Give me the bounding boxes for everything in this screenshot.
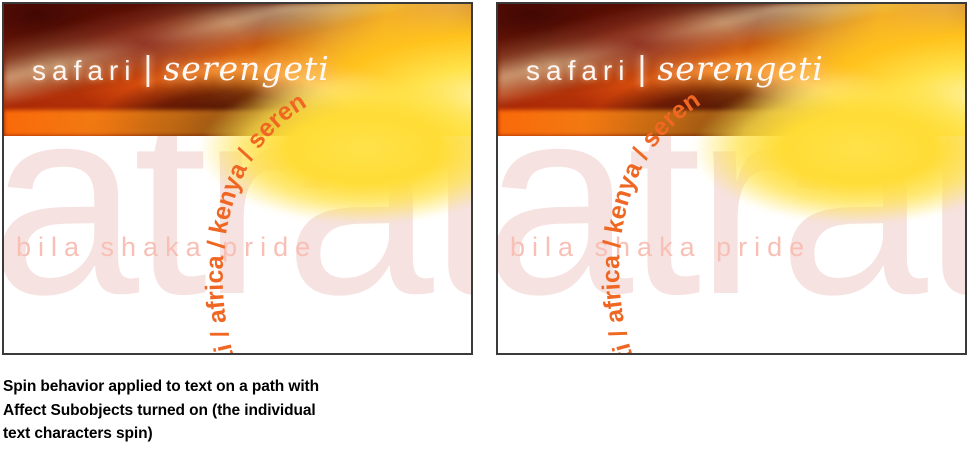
- tagline-text-right: bila shaka pride: [510, 232, 811, 263]
- tagline-text-left: bila shaka pride: [16, 232, 317, 263]
- figure-comparison-page: atratr bila shaka pride safari | serenge…: [0, 0, 969, 456]
- brand-primary-text: safari: [32, 55, 136, 87]
- caption-line: Spin behavior applied to text on a path …: [3, 375, 473, 399]
- caption-left: Spin behavior applied to text on a path …: [3, 375, 473, 446]
- banner-headline-left: safari | serengeti: [32, 49, 330, 89]
- banner-headline-right: safari | serengeti: [526, 49, 824, 89]
- preview-panel-left[interactable]: atratr bila shaka pride safari | serenge…: [2, 2, 473, 355]
- caption-line: Affect Subobjects turned on (the individ…: [3, 399, 473, 423]
- brand-primary-text: safari: [526, 55, 630, 87]
- brand-secondary-text: serengeti: [657, 49, 824, 88]
- figure-left: atratr bila shaka pride safari | serenge…: [2, 2, 473, 355]
- caption-line: text characters spin): [3, 422, 473, 446]
- figure-right: atratr bila shaka pride safari | serenge…: [496, 2, 967, 355]
- brand-secondary-text: serengeti: [163, 49, 330, 88]
- brand-divider-text: |: [637, 50, 646, 89]
- brand-divider-text: |: [143, 50, 152, 89]
- preview-panel-right[interactable]: atratr bila shaka pride safari | serenge…: [496, 2, 967, 355]
